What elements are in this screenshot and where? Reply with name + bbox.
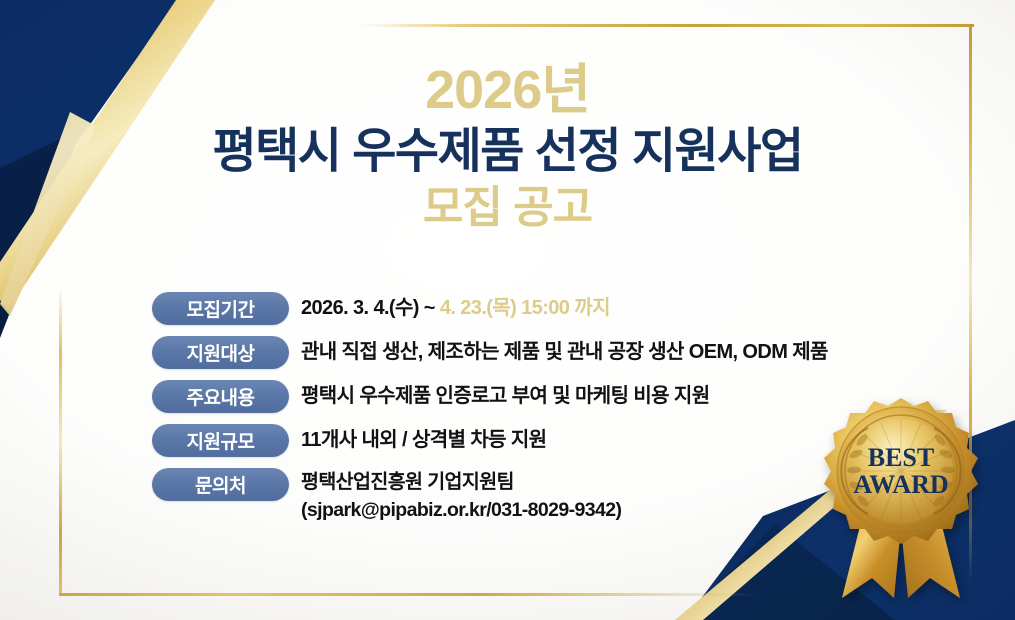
frame-line-left [59, 286, 62, 596]
info-value-support-scale: 11개사 내외 / 상격별 차등 지원 [301, 424, 546, 455]
info-label-main-content: 주요내용 [152, 380, 289, 413]
frame-line-top [360, 24, 974, 27]
info-label-application-period: 모집기간 [152, 292, 289, 325]
title-subtitle: 모집 공고 [0, 182, 1015, 235]
info-value-contact: 평택산업진흥원 기업지원팀 (sjpark@pipabiz.or.kr/031-… [301, 468, 621, 524]
info-label-contact: 문의처 [152, 468, 289, 501]
info-label-eligibility: 지원대상 [152, 336, 289, 369]
best-award-seal: BEST AWARD [806, 392, 996, 607]
info-value-main-content: 평택시 우수제품 인증로고 부여 및 마케팅 비용 지원 [301, 380, 710, 411]
award-seal-icon: BEST AWARD [806, 392, 996, 607]
title-year: 2026년 [0, 62, 1015, 119]
info-row-application-period: 모집기간 2026. 3. 4.(수) ~ 4. 23.(목) 15:00 까지 [152, 292, 952, 325]
period-plain-text: 2026. 3. 4.(수) ~ [301, 297, 440, 319]
seal-text-best: BEST [868, 443, 935, 472]
info-value-eligibility: 관내 직접 생산, 제조하는 제품 및 관내 공장 생산 OEM, ODM 제품 [301, 336, 828, 367]
title-block: 2026년 평택시 우수제품 선정 지원사업 모집 공고 [0, 62, 1015, 235]
poster-canvas: 2026년 평택시 우수제품 선정 지원사업 모집 공고 모집기간 2026. … [0, 0, 1015, 620]
info-value-application-period: 2026. 3. 4.(수) ~ 4. 23.(목) 15:00 까지 [301, 292, 610, 323]
title-main: 평택시 우수제품 선정 지원사업 [0, 123, 1015, 181]
frame-line-bottom [59, 593, 759, 596]
period-deadline-text: 4. 23.(목) 15:00 까지 [440, 297, 610, 319]
info-row-eligibility: 지원대상 관내 직접 생산, 제조하는 제품 및 관내 공장 생산 OEM, O… [152, 336, 952, 369]
seal-text-award: AWARD [853, 470, 948, 499]
info-label-support-scale: 지원규모 [152, 424, 289, 457]
